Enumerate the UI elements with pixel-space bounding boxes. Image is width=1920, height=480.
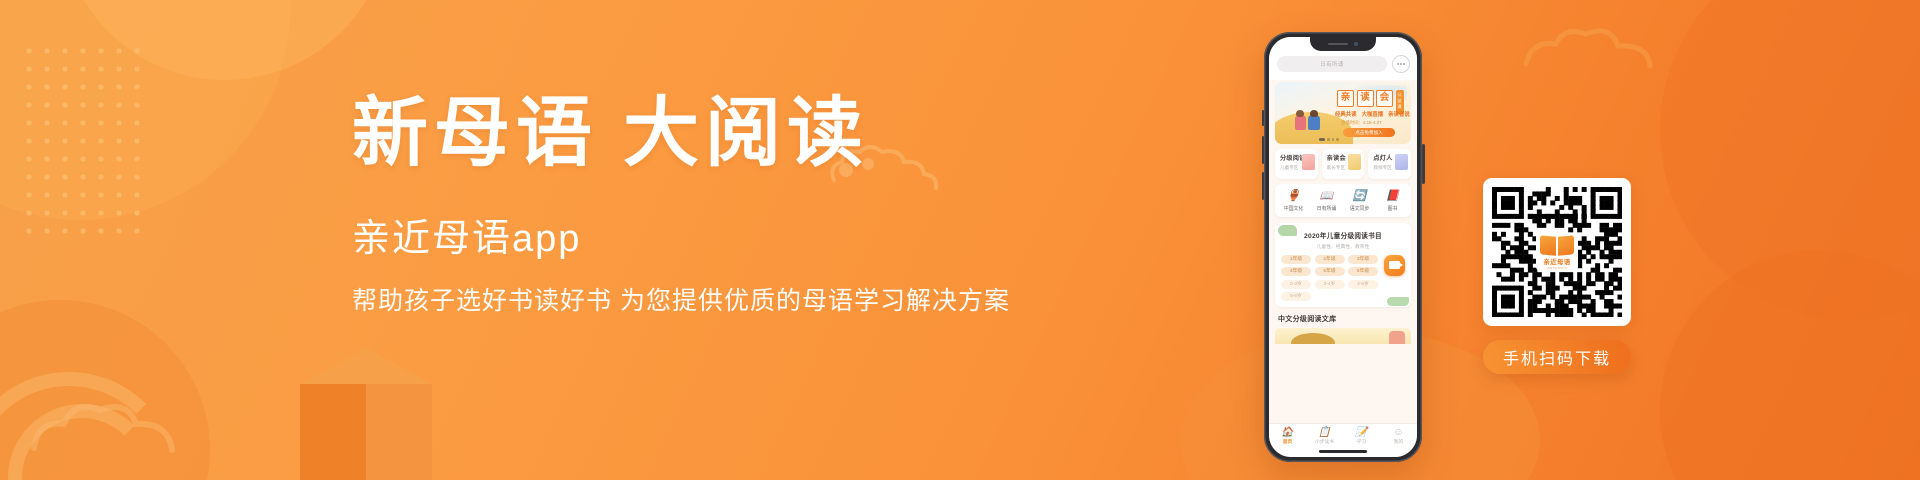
tab-label: 小步读书 bbox=[1306, 439, 1343, 445]
phone-mute-switch bbox=[1262, 110, 1265, 126]
tab-label: 首页 bbox=[1269, 439, 1306, 445]
tab-label: 我的 bbox=[1380, 439, 1417, 445]
dot bbox=[1403, 63, 1405, 65]
qr-logo-name: 亲近母语 bbox=[1538, 257, 1576, 266]
hero-cta-button[interactable]: 点击免费加入 bbox=[1343, 128, 1395, 137]
phone-mockup: 日有所诵 亲 读 会 公益课 经典共读 bbox=[1264, 32, 1422, 462]
promo-banner: 新母语 大阅读 亲近母语app 帮助孩子选好书读好书 为您提供优质的母语学习解决… bbox=[0, 0, 1920, 480]
card-illustration-icon bbox=[1395, 154, 1408, 170]
speaker-grille-icon bbox=[1328, 43, 1348, 45]
quick-icon-books[interactable]: 📕 图书 bbox=[1376, 190, 1409, 212]
search-row: 日有所诵 bbox=[1269, 51, 1417, 80]
search-input[interactable]: 日有所诵 bbox=[1277, 56, 1387, 72]
hero-subtitle: 大咖直播 bbox=[1362, 110, 1384, 118]
front-camera-icon bbox=[1354, 42, 1358, 46]
hero-child-left bbox=[1295, 115, 1306, 130]
library-card[interactable] bbox=[1275, 328, 1411, 344]
hero-subtitle: 亲读者说 bbox=[1388, 110, 1410, 118]
grade-chip[interactable]: 4年级 bbox=[1281, 267, 1311, 276]
search-placeholder: 日有所诵 bbox=[1320, 60, 1343, 68]
cube-left-face bbox=[300, 384, 366, 480]
grade-chip[interactable]: 3年级 bbox=[1348, 255, 1378, 264]
quick-icon-label: 图书 bbox=[1376, 205, 1409, 212]
decor-blob-bottom-right bbox=[1660, 250, 1920, 480]
pagination-dot bbox=[1327, 138, 1330, 141]
grade-chip[interactable]: 6年级 bbox=[1348, 267, 1378, 276]
reading-icon: 📋 bbox=[1306, 427, 1343, 438]
hero-subtitle: 经典共读 bbox=[1335, 110, 1357, 118]
home-indicator bbox=[1319, 450, 1367, 453]
booklist-section: 2020年儿童分级阅读书目 儿童性、经典性、教育性 1年级 2年级 3年级 4年… bbox=[1275, 223, 1411, 307]
dot bbox=[1400, 63, 1402, 65]
hero-title-char: 读 bbox=[1357, 90, 1374, 107]
quick-icon-chinese-culture[interactable]: 🏺 中国文化 bbox=[1277, 190, 1310, 212]
phone-power-button bbox=[1422, 144, 1425, 184]
carousel-pagination[interactable] bbox=[1319, 138, 1339, 141]
tab-profile[interactable]: ☺ 我的 bbox=[1380, 427, 1417, 445]
age-chip[interactable]: 4-5岁 bbox=[1348, 280, 1378, 289]
qr-center-logo: 亲近母语 QINJIN MUYU bbox=[1536, 234, 1578, 270]
quick-icon-row: 🏺 中国文化 📖 日有所诵 🔄 语文同步 📕 图书 bbox=[1275, 184, 1411, 217]
grade-chip[interactable]: 1年级 bbox=[1281, 255, 1311, 264]
card-illustration-icon bbox=[1348, 154, 1361, 170]
qr-code[interactable]: 亲近母语 QINJIN MUYU bbox=[1483, 178, 1631, 326]
qr-logo-pinyin: QINJIN MUYU bbox=[1538, 266, 1576, 270]
cube-right-face bbox=[366, 384, 432, 480]
decor-cloud-top-right bbox=[1522, 20, 1672, 80]
tab-study[interactable]: 📝 学习 bbox=[1343, 427, 1380, 445]
quick-icon-label: 语文同步 bbox=[1343, 205, 1376, 212]
quick-icon-daily-recite[interactable]: 📖 日有所诵 bbox=[1310, 190, 1343, 212]
category-card-parent-club[interactable]: 亲读会 家长专区 bbox=[1322, 149, 1365, 179]
hero-subtitles: 经典共读 大咖直播 亲读者说 bbox=[1335, 110, 1410, 118]
quick-icon-label: 日有所诵 bbox=[1310, 205, 1343, 212]
grade-chip[interactable]: 2年级 bbox=[1315, 255, 1345, 264]
age-chip[interactable]: 5-6岁 bbox=[1281, 292, 1311, 301]
quick-icon-chinese-sync[interactable]: 🔄 语文同步 bbox=[1343, 190, 1376, 212]
phone-volume-down-button bbox=[1262, 172, 1265, 200]
tab-home[interactable]: 🏠 首页 bbox=[1269, 427, 1306, 445]
banner-headline: 新母语 大阅读 bbox=[352, 86, 1012, 182]
home-icon: 🏠 bbox=[1269, 427, 1306, 438]
hero-title-char: 亲 bbox=[1337, 90, 1354, 107]
phone-notch bbox=[1310, 37, 1376, 51]
phone-screen: 日有所诵 亲 读 会 公益课 经典共读 bbox=[1269, 37, 1417, 457]
hero-title-char: 会 bbox=[1376, 90, 1393, 107]
tab-reading[interactable]: 📋 小步读书 bbox=[1306, 427, 1343, 445]
booklist-title: 2020年儿童分级阅读书目 bbox=[1281, 230, 1405, 240]
library-illustration-a bbox=[1291, 333, 1335, 344]
copy-block: 新母语 大阅读 亲近母语app 帮助孩子选好书读好书 为您提供优质的母语学习解决… bbox=[352, 86, 1012, 318]
decor-cube bbox=[300, 348, 432, 480]
qr-block: 亲近母语 QINJIN MUYU 手机扫码下载 bbox=[1483, 178, 1631, 374]
book-icon: 📕 bbox=[1376, 190, 1409, 203]
quick-icon-label: 中国文化 bbox=[1277, 205, 1310, 212]
dot bbox=[1397, 63, 1399, 65]
library-illustration-b bbox=[1389, 331, 1405, 344]
cube-top-face bbox=[300, 348, 432, 384]
profile-icon: ☺ bbox=[1380, 427, 1417, 438]
vase-icon: 🏺 bbox=[1277, 190, 1310, 203]
booklist-subtitle: 儿童性、经典性、教育性 bbox=[1281, 243, 1405, 250]
pagination-dot bbox=[1336, 138, 1339, 141]
decor-cloud-bottom-left bbox=[30, 392, 190, 462]
grade-chip[interactable]: 5年级 bbox=[1315, 267, 1345, 276]
hero-child-right bbox=[1308, 115, 1320, 130]
decor-dot-grid bbox=[20, 42, 146, 238]
hero-date: 直播时间：4.16-4.27 bbox=[1341, 120, 1382, 126]
card-illustration-icon bbox=[1302, 154, 1315, 170]
phone-volume-up-button bbox=[1262, 136, 1265, 164]
leaf-decoration-icon bbox=[1278, 225, 1297, 236]
book-open-icon: 📖 bbox=[1310, 190, 1343, 203]
camera-body bbox=[1389, 261, 1400, 269]
age-chip[interactable]: 3-4岁 bbox=[1315, 280, 1345, 289]
banner-tagline: 帮助孩子选好书读好书 为您提供优质的母语学习解决方案 bbox=[352, 284, 1012, 318]
tab-label: 学习 bbox=[1343, 439, 1380, 445]
category-card-teacher[interactable]: 点灯人 教师专区 bbox=[1368, 149, 1411, 179]
library-title: 中文分级阅读文库 bbox=[1278, 314, 1417, 324]
video-camera-icon[interactable] bbox=[1384, 255, 1405, 276]
sync-icon: 🔄 bbox=[1343, 190, 1376, 203]
decor-blob-top-right bbox=[1660, 0, 1920, 320]
pagination-dot bbox=[1332, 138, 1335, 141]
download-button[interactable]: 手机扫码下载 bbox=[1483, 340, 1631, 374]
ellipsis-icon[interactable] bbox=[1392, 55, 1410, 73]
banner-subtitle: 亲近母语app bbox=[352, 216, 1012, 262]
age-chip[interactable]: 0-3岁 bbox=[1281, 280, 1311, 289]
hero-banner[interactable]: 亲 读 会 公益课 经典共读 大咖直播 亲读者说 直播时间：4.16-4.27 … bbox=[1275, 82, 1411, 144]
open-book-icon bbox=[1538, 236, 1576, 256]
pagination-dot-active bbox=[1319, 138, 1325, 141]
grade-filter-group: 1年级 2年级 3年级 4年级 5年级 6年级 0-3岁 3-4岁 4-5岁 5… bbox=[1281, 255, 1405, 302]
study-icon: 📝 bbox=[1343, 427, 1380, 438]
category-card-graded-reading[interactable]: 分级阅读 儿童专区 bbox=[1275, 149, 1318, 179]
category-cards: 分级阅读 儿童专区 亲读会 家长专区 点灯人 教师专区 bbox=[1275, 149, 1411, 179]
